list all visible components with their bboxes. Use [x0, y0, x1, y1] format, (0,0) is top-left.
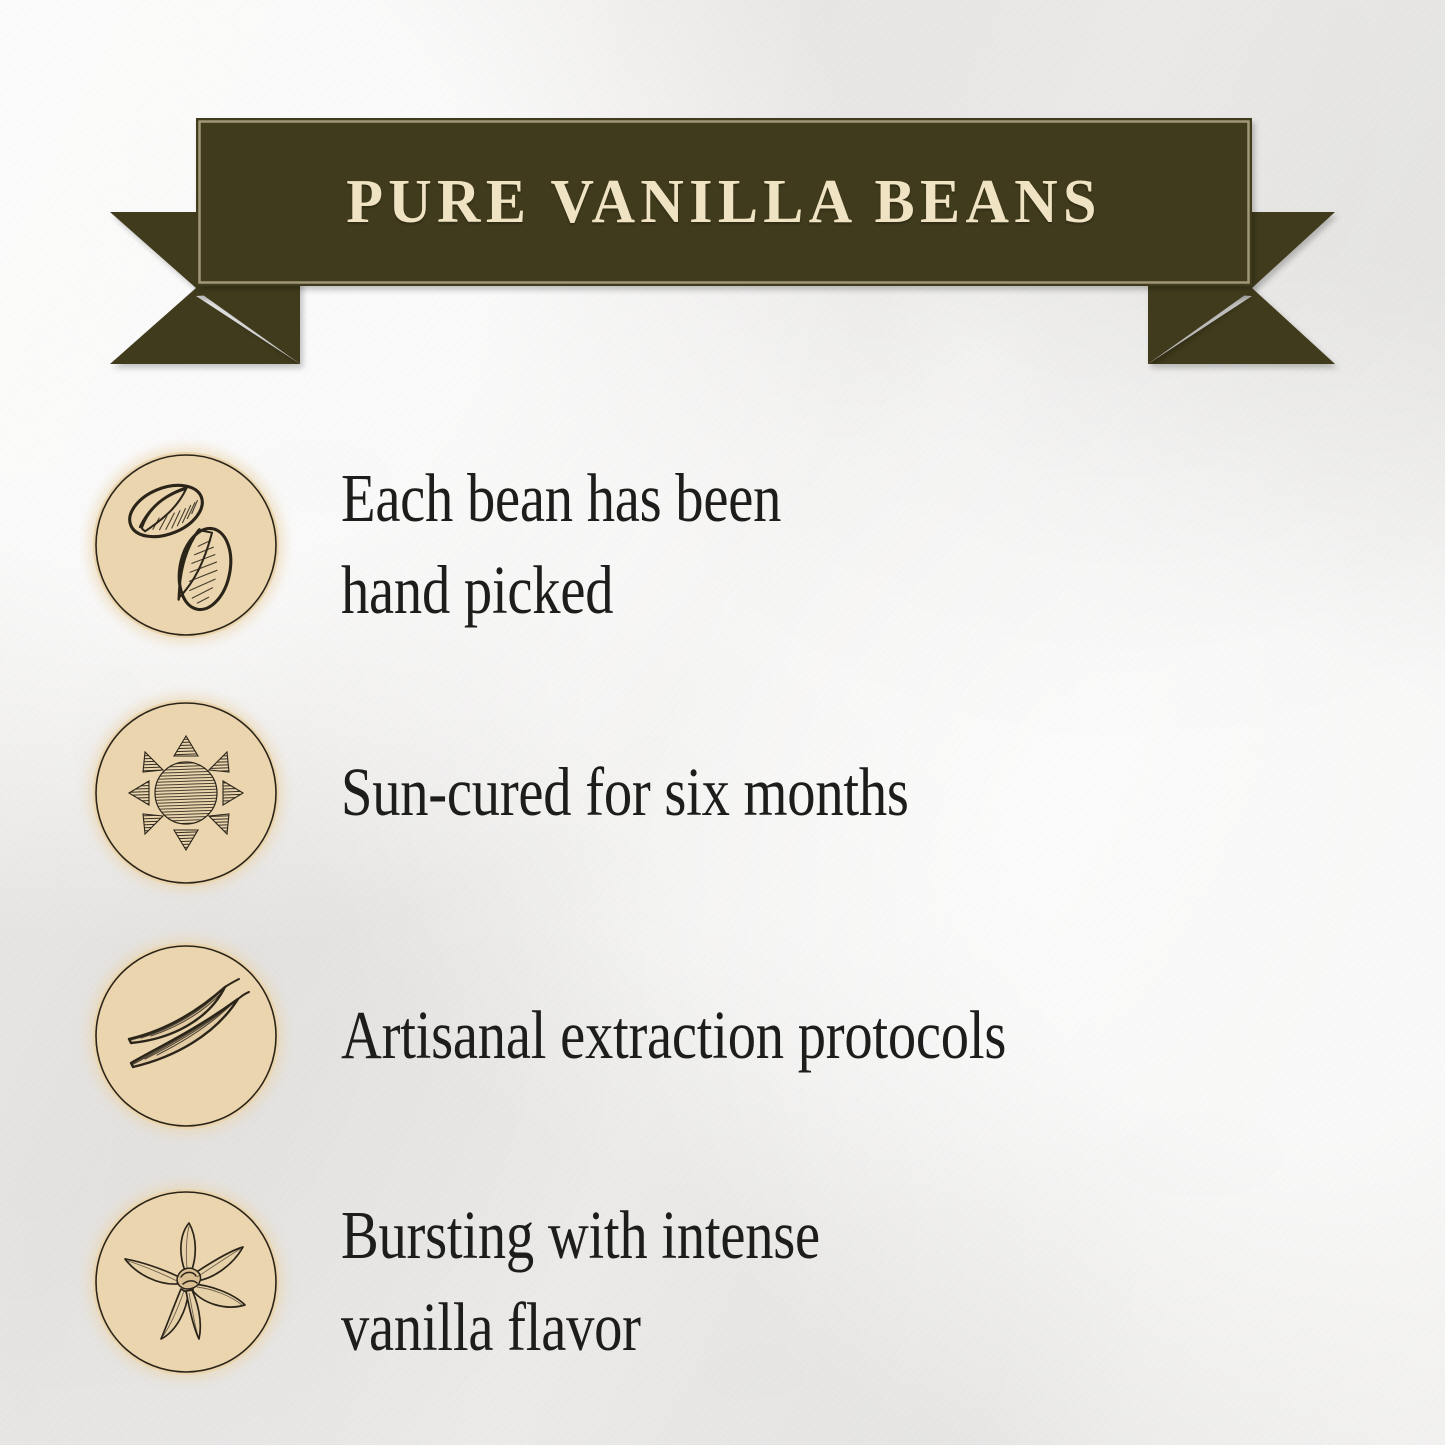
product-feature-graphic: Pure Vanilla Beans: [0, 0, 1445, 1445]
vanilla-flower-icon: [93, 1189, 279, 1375]
feature-label: Sun-cured for six months: [341, 747, 1246, 839]
list-item: Sun-cured for six months: [0, 670, 1445, 915]
list-item: Each bean has been hand picked: [0, 420, 1445, 670]
feature-label: Each bean has been hand picked: [341, 453, 1246, 637]
vanilla-pods-icon: [93, 943, 279, 1129]
feature-icon-badge: [93, 452, 279, 638]
banner: Pure Vanilla Beans: [0, 0, 1445, 400]
sun-icon: [93, 700, 279, 886]
vanilla-beans-icon: [93, 452, 279, 638]
list-item: Bursting with intense vanilla flavor: [0, 1157, 1445, 1407]
page-title: Pure Vanilla Beans: [212, 118, 1236, 286]
feature-label: Bursting with intense vanilla flavor: [341, 1190, 1246, 1374]
list-item: Artisanal extraction protocols: [0, 915, 1445, 1157]
feature-icon-badge: [93, 700, 279, 886]
feature-label: Artisanal extraction protocols: [341, 990, 1246, 1082]
feature-icon-badge: [93, 943, 279, 1129]
feature-icon-badge: [93, 1189, 279, 1375]
feature-list: Each bean has been hand picked: [0, 420, 1445, 1407]
